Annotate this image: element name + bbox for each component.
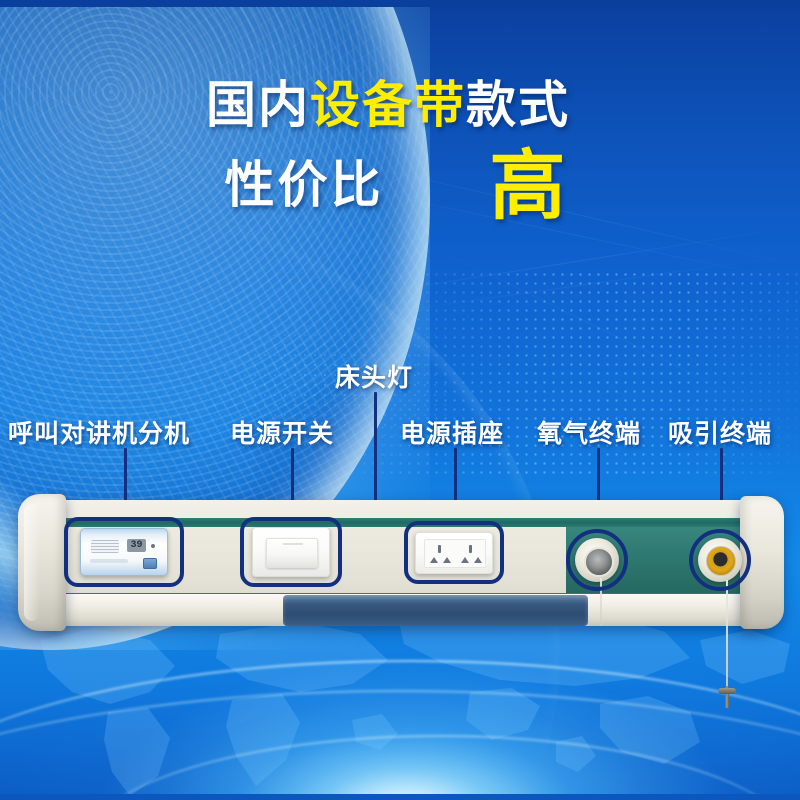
headline-seg-5: 高 [490,144,566,229]
highlight-suction-terminal [689,529,751,591]
callout-label-suction-terminal: 吸引终端 [668,414,772,450]
rail-dark-section [283,595,588,626]
poster-canvas: 国内设备带款式 性价比高 呼叫对讲机分机 电源开关 床头灯 电源插座 氧气终端 … [0,0,800,800]
headline-seg-2: 设备带 [310,77,466,133]
callout-label-bed-lamp: 床头灯 [335,358,413,394]
headline-line-1: 国内设备带款式 [0,78,800,132]
headline-block: 国内设备带款式 性价比高 [0,78,800,228]
highlight-intercom [64,517,184,587]
headline-seg-1: 国内 [206,77,310,133]
headline-line-2: 性价比高 [0,146,800,228]
callout-label-power-switch: 电源开关 [230,414,334,450]
bottom-edge-bar [0,794,800,800]
cord-suction [726,580,728,690]
highlight-oxygen-terminal [566,529,628,591]
top-edge-bar [0,0,800,7]
callout-label-power-socket: 电源插座 [400,414,504,450]
highlight-power-switch [240,517,342,587]
end-cap-left [18,494,66,631]
highlight-power-socket [404,521,504,584]
callout-label-oxygen-terminal: 氧气终端 [537,414,641,450]
headline-seg-3: 款式 [466,77,570,133]
headline-seg-4: 性价比 [225,157,384,213]
callout-label-intercom: 呼叫对讲机分机 [8,414,190,450]
screw-icon [718,686,736,708]
